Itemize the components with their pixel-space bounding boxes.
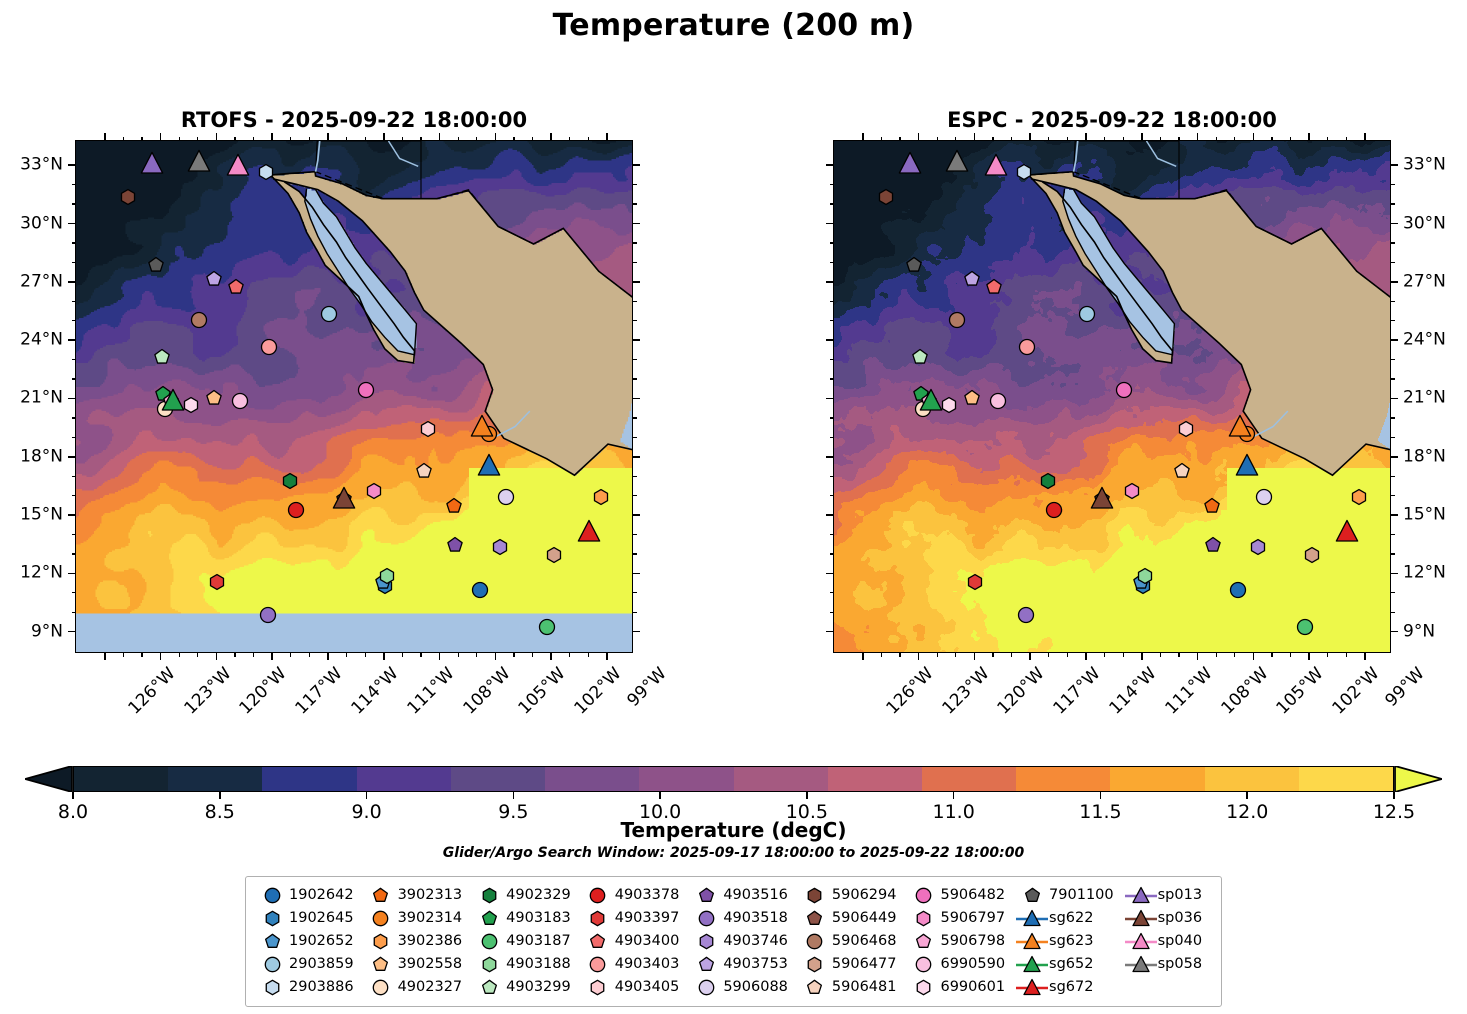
x-axis-label: 114°W xyxy=(349,665,402,718)
legend-marker-icon xyxy=(689,954,723,976)
y-tick xyxy=(1390,456,1398,458)
colorbar-segment xyxy=(1016,767,1110,791)
y-tick xyxy=(68,223,76,225)
y-tick-opposite xyxy=(632,573,640,575)
x-minor-tick-top xyxy=(179,137,180,142)
y-minor-tick xyxy=(1390,203,1395,204)
y-minor-tick-opposite xyxy=(632,203,637,204)
x-tick-top xyxy=(495,133,497,141)
y-minor-tick-opposite xyxy=(830,553,835,554)
x-minor-tick xyxy=(1290,652,1291,657)
legend-item[interactable]: 3902386 xyxy=(364,930,473,953)
y-minor-tick xyxy=(1390,301,1395,302)
x-minor-tick-top xyxy=(1123,137,1124,142)
x-axis-label: 117°W xyxy=(1051,665,1104,718)
legend-marker-icon xyxy=(689,885,723,907)
legend-item[interactable]: sp058 xyxy=(1124,953,1212,976)
x-axis-label: 111°W xyxy=(405,665,458,718)
y-minor-tick xyxy=(72,184,77,185)
legend-item[interactable]: sg622 xyxy=(1015,907,1124,930)
legend-item[interactable]: 3902314 xyxy=(364,907,473,930)
x-minor-tick-top xyxy=(1104,137,1105,142)
legend-item[interactable]: 4903753 xyxy=(689,953,798,976)
y-minor-tick xyxy=(1390,184,1395,185)
x-tick-top xyxy=(974,133,976,141)
x-tick xyxy=(495,652,497,660)
legend-item[interactable]: 1902642 xyxy=(255,884,364,907)
y-minor-tick xyxy=(1390,262,1395,263)
x-tick-top xyxy=(550,133,552,141)
y-minor-tick-opposite xyxy=(830,359,835,360)
y-tick-opposite xyxy=(826,164,834,166)
x-minor-tick-top xyxy=(365,137,366,142)
legend-item[interactable]: 5906088 xyxy=(689,976,798,999)
y-minor-tick xyxy=(72,437,77,438)
legend-label: 1902652 xyxy=(289,934,354,949)
colorbar-segment xyxy=(734,767,828,791)
legend-item[interactable]: 2903859 xyxy=(255,953,364,976)
legend-marker-icon xyxy=(255,931,289,953)
legend-item[interactable]: 7901100 xyxy=(1015,884,1124,907)
y-tick-opposite xyxy=(826,573,834,575)
legend-item[interactable]: sp040 xyxy=(1124,930,1212,953)
legend-item[interactable]: 6990590 xyxy=(906,953,1015,976)
legend-marker-icon xyxy=(798,885,832,907)
legend-marker-icon xyxy=(255,977,289,999)
y-minor-tick xyxy=(1390,612,1395,613)
y-minor-tick-opposite xyxy=(830,301,835,302)
y-minor-tick xyxy=(72,301,77,302)
colorbar-extend-min xyxy=(25,766,73,792)
y-tick-opposite xyxy=(826,281,834,283)
y-tick-opposite xyxy=(632,514,640,516)
y-tick-opposite xyxy=(632,398,640,400)
legend-label: 5906481 xyxy=(832,980,897,995)
y-minor-tick-opposite xyxy=(830,612,835,613)
y-tick-opposite xyxy=(632,164,640,166)
legend-label: 4903403 xyxy=(615,957,680,972)
x-minor-tick xyxy=(1234,652,1235,657)
legend-item[interactable]: 3902558 xyxy=(364,953,473,976)
x-tick-top xyxy=(160,133,162,141)
x-minor-tick xyxy=(197,652,198,657)
y-minor-tick-opposite xyxy=(830,378,835,379)
x-minor-tick-top xyxy=(253,137,254,142)
x-minor-tick-top xyxy=(458,137,459,142)
y-minor-tick xyxy=(72,476,77,477)
legend-label: 4903746 xyxy=(723,934,788,949)
x-minor-tick xyxy=(1178,652,1179,657)
y-minor-tick xyxy=(1390,359,1395,360)
map-panel-rtofs: RTOFS - 2025-09-22 18:00:00126°W123°W120… xyxy=(75,140,633,653)
x-minor-tick xyxy=(992,652,993,657)
x-minor-tick-top xyxy=(346,137,347,142)
legend-marker-icon xyxy=(906,931,940,953)
legend-item[interactable]: 3902313 xyxy=(364,884,473,907)
colorbar-tick xyxy=(366,792,368,799)
x-minor-tick xyxy=(458,652,459,657)
x-minor-tick-top xyxy=(1048,137,1049,142)
y-tick xyxy=(1390,631,1398,633)
y-minor-tick-opposite xyxy=(830,437,835,438)
legend-marker-icon xyxy=(1124,885,1158,907)
y-minor-tick-opposite xyxy=(830,476,835,477)
colorbar-gradient xyxy=(73,766,1394,792)
y-tick-opposite xyxy=(826,223,834,225)
y-minor-tick-opposite xyxy=(632,495,637,496)
legend-label: 1902642 xyxy=(289,888,354,903)
x-minor-tick xyxy=(365,652,366,657)
x-tick-top xyxy=(104,133,106,141)
legend-item[interactable]: 4903187 xyxy=(472,930,581,953)
y-tick xyxy=(1390,223,1398,225)
y-axis-label: 15°N xyxy=(20,507,63,524)
x-minor-tick xyxy=(1048,652,1049,657)
legend-item[interactable]: 4903400 xyxy=(581,930,690,953)
y-minor-tick xyxy=(1390,476,1395,477)
legend-item[interactable]: 4903378 xyxy=(581,884,690,907)
x-tick xyxy=(1085,652,1087,660)
x-minor-tick xyxy=(1104,652,1105,657)
map-area-espc[interactable] xyxy=(833,140,1391,653)
y-axis-label: 12°N xyxy=(1403,565,1446,582)
legend-item[interactable]: 4902329 xyxy=(472,884,581,907)
x-tick-top xyxy=(327,133,329,141)
legend-item[interactable]: 5906449 xyxy=(798,907,907,930)
y-tick xyxy=(68,281,76,283)
x-tick-top xyxy=(1197,133,1199,141)
colorbar-tick xyxy=(513,792,515,799)
x-minor-tick-top xyxy=(309,137,310,142)
y-axis-label: 9°N xyxy=(1403,623,1435,640)
legend-marker-icon xyxy=(255,908,289,930)
legend-marker-icon xyxy=(798,954,832,976)
legend-marker-icon xyxy=(472,885,506,907)
x-tick-top xyxy=(1253,133,1255,141)
legend-label: 5906449 xyxy=(832,911,897,926)
y-minor-tick-opposite xyxy=(830,184,835,185)
x-minor-tick xyxy=(290,652,291,657)
y-tick xyxy=(68,456,76,458)
legend-label: 4903299 xyxy=(506,980,571,995)
panel-title-espc: ESPC - 2025-09-22 18:00:00 xyxy=(833,108,1391,132)
y-minor-tick-opposite xyxy=(830,417,835,418)
y-minor-tick-opposite xyxy=(632,242,637,243)
y-tick xyxy=(1390,573,1398,575)
legend-marker-icon xyxy=(364,977,398,999)
x-minor-tick-top xyxy=(1011,137,1012,142)
y-tick-opposite xyxy=(632,223,640,225)
y-minor-tick-opposite xyxy=(632,378,637,379)
legend-label: 5906468 xyxy=(832,934,897,949)
colorbar-tick xyxy=(953,792,955,799)
y-axis-label: 24°N xyxy=(1403,332,1446,349)
x-tick xyxy=(271,652,273,660)
x-minor-tick xyxy=(588,652,589,657)
legend-marker-icon xyxy=(906,908,940,930)
colorbar-label: Temperature (degC) xyxy=(0,818,1467,842)
y-minor-tick xyxy=(72,359,77,360)
legend-label: 2903886 xyxy=(289,980,354,995)
x-minor-tick xyxy=(1067,652,1068,657)
legend-item[interactable]: 5906477 xyxy=(798,953,907,976)
x-minor-tick-top xyxy=(899,137,900,142)
x-minor-tick xyxy=(253,652,254,657)
x-minor-tick xyxy=(1011,652,1012,657)
x-axis-label: 123°W xyxy=(939,665,992,718)
y-axis-label: 21°N xyxy=(1403,390,1446,407)
y-axis-label: 33°N xyxy=(1403,157,1446,174)
map-panel-espc: ESPC - 2025-09-22 18:00:00126°W123°W120°… xyxy=(833,140,1391,653)
legend-item[interactable]: sg652 xyxy=(1015,953,1124,976)
legend-marker-icon xyxy=(581,977,615,999)
x-minor-tick xyxy=(569,652,570,657)
y-minor-tick xyxy=(1390,495,1395,496)
legend-label: sg672 xyxy=(1049,980,1093,995)
y-tick-opposite xyxy=(826,339,834,341)
legend-item[interactable]: 5906468 xyxy=(798,930,907,953)
colorbar-tick xyxy=(72,792,74,799)
legend-label: 4903518 xyxy=(723,911,788,926)
y-minor-tick xyxy=(72,203,77,204)
legend-marker-icon xyxy=(581,954,615,976)
x-axis-label: 102°W xyxy=(1330,665,1383,718)
legend-marker-icon xyxy=(472,931,506,953)
y-minor-tick-opposite xyxy=(632,476,637,477)
legend-label: 3902558 xyxy=(398,957,463,972)
legend-item[interactable]: 4903405 xyxy=(581,976,690,999)
x-minor-tick xyxy=(1271,652,1272,657)
x-tick xyxy=(439,652,441,660)
legend-label: 3902314 xyxy=(398,911,463,926)
colorbar-segment xyxy=(545,767,639,791)
y-minor-tick-opposite xyxy=(632,184,637,185)
legend-item[interactable]: sg623 xyxy=(1015,930,1124,953)
legend-marker-icon xyxy=(798,931,832,953)
y-tick-opposite xyxy=(826,631,834,633)
legend-label: 4903753 xyxy=(723,957,788,972)
search-window-text: Glider/Argo Search Window: 2025-09-17 18… xyxy=(0,845,1467,861)
colorbar-tick xyxy=(659,792,661,799)
x-minor-tick-top xyxy=(992,137,993,142)
colorbar-segment xyxy=(1205,767,1299,791)
y-minor-tick xyxy=(72,262,77,263)
legend-label: 4903516 xyxy=(723,888,788,903)
legend-item[interactable]: 5906797 xyxy=(906,907,1015,930)
legend-label: 1902645 xyxy=(289,911,354,926)
y-axis-label: 18°N xyxy=(20,448,63,465)
legend-label: 5906088 xyxy=(723,980,788,995)
x-axis-label: 120°W xyxy=(237,665,290,718)
y-minor-tick xyxy=(72,242,77,243)
legend-item[interactable]: sp036 xyxy=(1124,907,1212,930)
colorbar-extend-max xyxy=(1394,766,1442,792)
x-minor-tick-top xyxy=(532,137,533,142)
y-minor-tick-opposite xyxy=(632,301,637,302)
x-tick-top xyxy=(1029,133,1031,141)
x-tick-top xyxy=(1364,133,1366,141)
y-axis-label: 27°N xyxy=(1403,273,1446,290)
x-tick xyxy=(1253,652,1255,660)
legend-item[interactable]: 4903403 xyxy=(581,953,690,976)
legend-item[interactable]: sg672 xyxy=(1015,976,1124,999)
legend-marker-icon xyxy=(906,885,940,907)
legend-label: 2903859 xyxy=(289,957,354,972)
legend-label: 3902313 xyxy=(398,888,463,903)
x-minor-tick xyxy=(1160,652,1161,657)
x-tick xyxy=(327,652,329,660)
x-axis-label: 105°W xyxy=(516,665,569,718)
legend-marker-icon xyxy=(689,977,723,999)
legend-label: sg652 xyxy=(1049,957,1093,972)
legend-item[interactable]: 4903516 xyxy=(689,884,798,907)
x-minor-tick xyxy=(513,652,514,657)
x-minor-tick xyxy=(420,652,421,657)
x-minor-tick xyxy=(937,652,938,657)
y-tick xyxy=(1390,281,1398,283)
legend-item[interactable]: 5906482 xyxy=(906,884,1015,907)
legend-marker-icon xyxy=(1015,954,1049,976)
colorbar-segment xyxy=(262,767,356,791)
legend-marker-icon xyxy=(255,885,289,907)
x-axis-label: 99°W xyxy=(1383,665,1428,710)
legend-item[interactable]: 4902327 xyxy=(364,976,473,999)
y-minor-tick-opposite xyxy=(830,534,835,535)
legend-label: 4903187 xyxy=(506,934,571,949)
y-minor-tick xyxy=(72,320,77,321)
panel-title-rtofs: RTOFS - 2025-09-22 18:00:00 xyxy=(75,108,633,132)
x-axis-label: 120°W xyxy=(995,665,1048,718)
legend-label: 4903400 xyxy=(615,934,680,949)
y-minor-tick-opposite xyxy=(632,534,637,535)
y-tick-opposite xyxy=(632,456,640,458)
legend-label: 5906798 xyxy=(940,934,1005,949)
y-tick xyxy=(1390,164,1398,166)
legend-label: 6990590 xyxy=(940,957,1005,972)
legend-item[interactable]: sp013 xyxy=(1124,884,1212,907)
y-minor-tick xyxy=(72,417,77,418)
legend-label: 4903397 xyxy=(615,911,680,926)
x-tick-top xyxy=(216,133,218,141)
y-axis-label: 15°N xyxy=(1403,507,1446,524)
y-tick xyxy=(1390,514,1398,516)
map-area-rtofs[interactable] xyxy=(75,140,633,653)
y-minor-tick xyxy=(72,553,77,554)
x-tick xyxy=(383,652,385,660)
x-axis-label: 126°W xyxy=(884,665,937,718)
legend-item[interactable]: 4903397 xyxy=(581,907,690,930)
y-minor-tick-opposite xyxy=(830,262,835,263)
x-minor-tick-top xyxy=(1271,137,1272,142)
legend-marker-icon xyxy=(364,908,398,930)
y-minor-tick xyxy=(72,592,77,593)
x-tick-top xyxy=(439,133,441,141)
y-minor-tick xyxy=(1390,320,1395,321)
legend-item[interactable]: 2903886 xyxy=(255,976,364,999)
legend-label: sp058 xyxy=(1158,957,1202,972)
x-tick xyxy=(606,652,608,660)
figure-suptitle: Temperature (200 m) xyxy=(0,8,1467,43)
y-minor-tick-opposite xyxy=(632,437,637,438)
legend-label: 4903378 xyxy=(615,888,680,903)
y-minor-tick xyxy=(72,534,77,535)
x-minor-tick-top xyxy=(937,137,938,142)
legend-item[interactable]: 4903183 xyxy=(472,907,581,930)
y-tick xyxy=(1390,339,1398,341)
legend-label: 5906477 xyxy=(832,957,897,972)
legend-item[interactable]: 1902645 xyxy=(255,907,364,930)
x-tick-top xyxy=(271,133,273,141)
x-tick xyxy=(918,652,920,660)
colorbar: 8.08.59.09.510.010.511.011.512.012.5 xyxy=(25,766,1442,792)
legend-item[interactable]: 4903299 xyxy=(472,976,581,999)
legend-item[interactable]: 5906798 xyxy=(906,930,1015,953)
x-minor-tick-top xyxy=(1178,137,1179,142)
legend-label: 7901100 xyxy=(1049,888,1114,903)
legend-marker-icon xyxy=(364,954,398,976)
x-tick-top xyxy=(918,133,920,141)
y-minor-tick xyxy=(72,612,77,613)
legend-marker-icon xyxy=(798,908,832,930)
x-minor-tick-top xyxy=(141,137,142,142)
legend-label: sg622 xyxy=(1049,911,1093,926)
x-minor-tick-top xyxy=(881,137,882,142)
legend-marker-icon xyxy=(689,931,723,953)
colorbar-segment xyxy=(639,767,733,791)
x-axis-label: 108°W xyxy=(1218,665,1271,718)
legend-item[interactable]: 4903746 xyxy=(689,930,798,953)
y-minor-tick-opposite xyxy=(632,553,637,554)
y-minor-tick xyxy=(72,378,77,379)
legend-marker-icon xyxy=(798,977,832,999)
colorbar-segment xyxy=(451,767,545,791)
legend-marker-icon xyxy=(906,977,940,999)
x-tick xyxy=(550,652,552,660)
y-tick-opposite xyxy=(632,631,640,633)
colorbar-segment xyxy=(1299,767,1393,791)
x-tick-top xyxy=(862,133,864,141)
legend-item[interactable]: 5906294 xyxy=(798,884,907,907)
y-axis-label: 18°N xyxy=(1403,448,1446,465)
legend-marker-icon xyxy=(472,908,506,930)
y-minor-tick-opposite xyxy=(830,495,835,496)
x-minor-tick xyxy=(123,652,124,657)
legend-item[interactable]: 1902652 xyxy=(255,930,364,953)
legend-item[interactable]: 4903188 xyxy=(472,953,581,976)
legend-item[interactable]: 4903518 xyxy=(689,907,798,930)
legend-label: 4903183 xyxy=(506,911,571,926)
y-axis-label: 24°N xyxy=(20,332,63,349)
legend-marker-icon xyxy=(906,954,940,976)
colorbar-tick xyxy=(1393,792,1395,799)
legend-item[interactable]: 6990601 xyxy=(906,976,1015,999)
y-tick xyxy=(1390,398,1398,400)
y-minor-tick xyxy=(1390,437,1395,438)
x-tick xyxy=(862,652,864,660)
y-minor-tick-opposite xyxy=(830,592,835,593)
x-minor-tick-top xyxy=(290,137,291,142)
y-tick-opposite xyxy=(826,398,834,400)
x-minor-tick xyxy=(1346,652,1347,657)
y-minor-tick-opposite xyxy=(632,417,637,418)
legend-label: 3902386 xyxy=(398,934,463,949)
legend-marker-icon xyxy=(1015,908,1049,930)
y-minor-tick-opposite xyxy=(830,320,835,321)
y-tick-opposite xyxy=(632,281,640,283)
legend-item[interactable]: 5906481 xyxy=(798,976,907,999)
y-tick xyxy=(68,514,76,516)
x-minor-tick-top xyxy=(588,137,589,142)
